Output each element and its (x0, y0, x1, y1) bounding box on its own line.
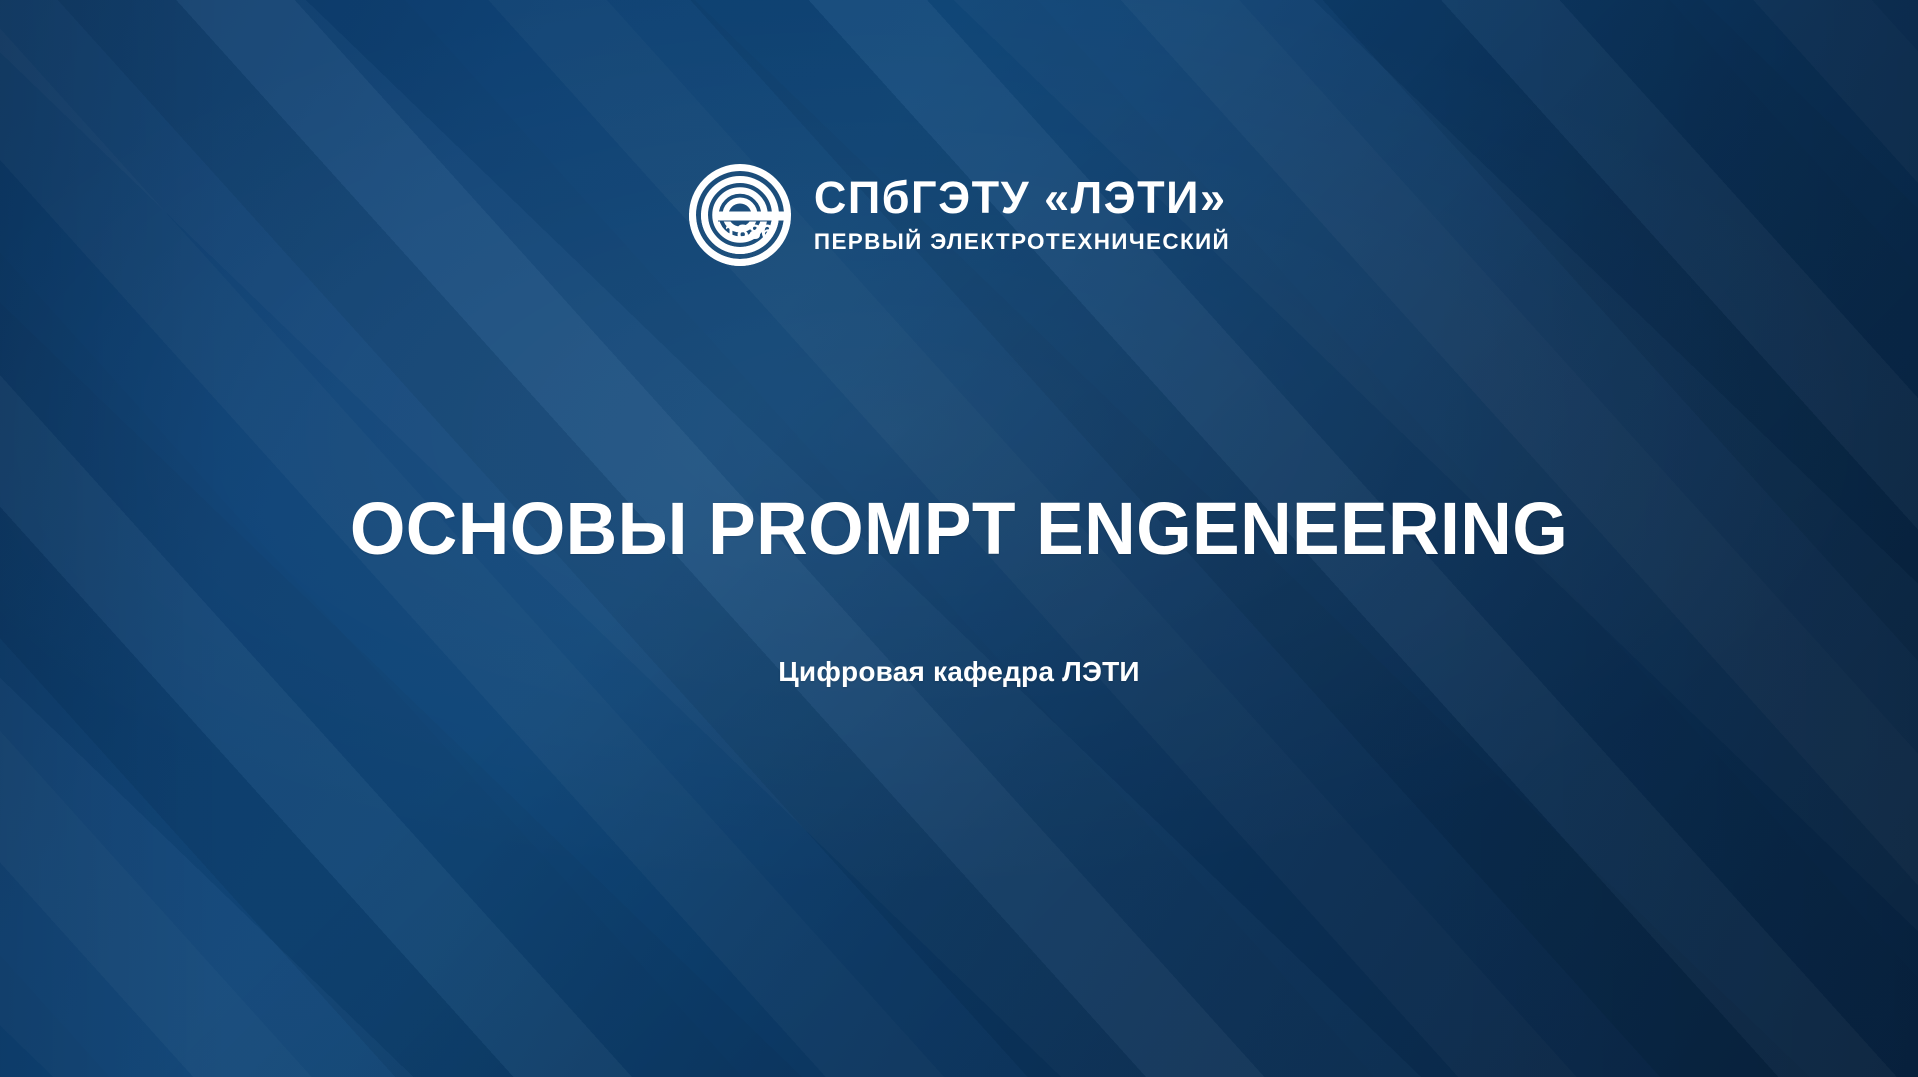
logo-text-block: СПбГЭТУ «ЛЭТИ» ПЕРВЫЙ ЭЛЕКТРОТЕХНИЧЕСКИЙ (814, 175, 1230, 255)
university-logo-lockup: 1886 СПбГЭТУ «ЛЭТИ» ПЕРВЫЙ ЭЛЕКТРОТЕХНИЧ… (0, 163, 1918, 267)
logo-university-tagline: ПЕРВЫЙ ЭЛЕКТРОТЕХНИЧЕСКИЙ (814, 229, 1230, 255)
slide-main-title: ОСНОВЫ PROMPT ENGENEERING (34, 490, 1885, 568)
slide-subtitle: Цифровая кафедра ЛЭТИ (0, 655, 1918, 689)
leti-spiral-emblem-icon: 1886 (688, 163, 792, 267)
emblem-year-text: 1886 (725, 221, 774, 244)
slide-content: 1886 СПбГЭТУ «ЛЭТИ» ПЕРВЫЙ ЭЛЕКТРОТЕХНИЧ… (0, 0, 1918, 1077)
logo-university-name: СПбГЭТУ «ЛЭТИ» (814, 175, 1230, 222)
title-slide: 1886 СПбГЭТУ «ЛЭТИ» ПЕРВЫЙ ЭЛЕКТРОТЕХНИЧ… (0, 0, 1918, 1077)
